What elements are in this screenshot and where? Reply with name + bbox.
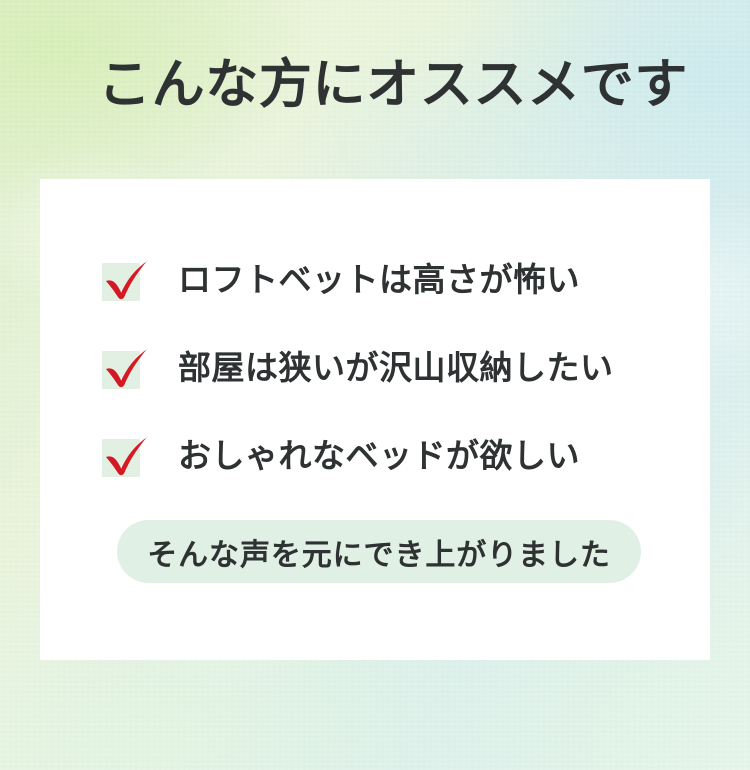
red-check-mark-icon	[100, 339, 156, 395]
red-check-mark-icon	[100, 427, 156, 483]
promo-banner-page: こんな方にオススメです ロフトベットは高さが怖い	[0, 0, 750, 770]
summary-banner-label: そんな声を元にでき上がりました	[147, 530, 611, 574]
list-item: おしゃれなベッドが欲しい	[100, 411, 690, 499]
red-check-mark-icon	[100, 251, 156, 307]
page-title: こんな方にオススメです	[98, 56, 688, 114]
summary-banner: そんな声を元にでき上がりました	[117, 520, 641, 583]
list-item-label: おしゃれなベッドが欲しい	[178, 439, 580, 472]
list-item: 部屋は狭いが沢山収納したい	[100, 323, 690, 411]
list-item: ロフトベットは高さが怖い	[100, 235, 690, 323]
list-item-label: ロフトベットは高さが怖い	[178, 263, 580, 296]
recommendation-card: ロフトベットは高さが怖い 部屋は狭いが沢山収納したい	[40, 179, 710, 660]
list-item-label: 部屋は狭いが沢山収納したい	[178, 351, 613, 384]
check-list: ロフトベットは高さが怖い 部屋は狭いが沢山収納したい	[100, 235, 690, 499]
